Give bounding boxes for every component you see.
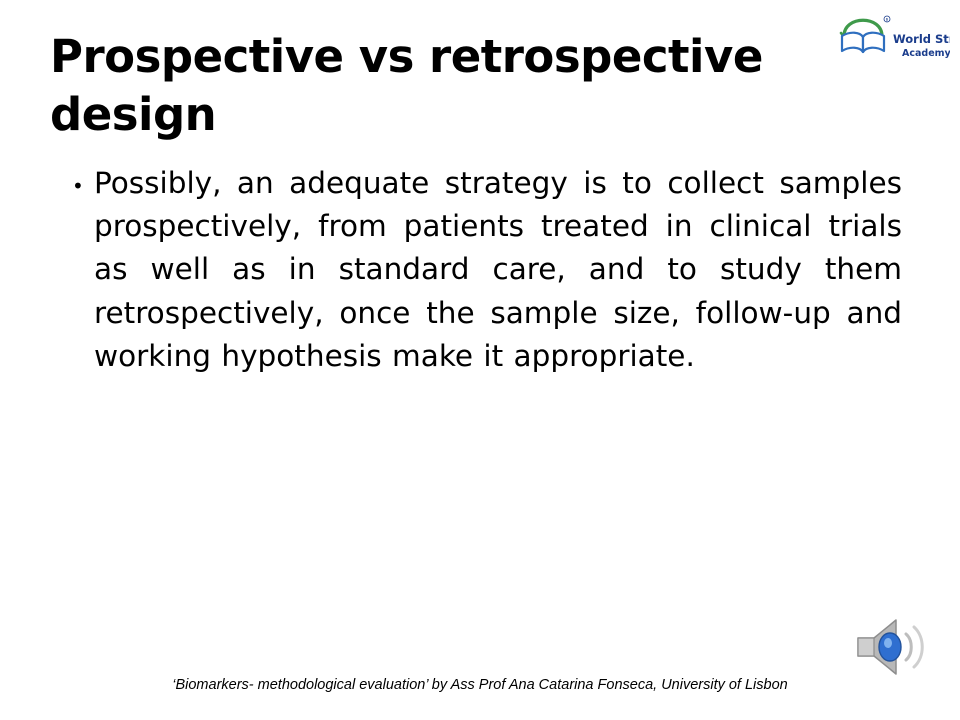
footer-credit: ‘Biomarkers- methodological evaluation’ … bbox=[0, 677, 960, 693]
bullet-text: Possibly, an adequate strategy is to col… bbox=[94, 162, 902, 378]
slide-canvas: R World Stroke Academy Prospective vs re… bbox=[0, 0, 960, 720]
bullet-item: • Possibly, an adequate strategy is to c… bbox=[72, 162, 902, 378]
slide-title: Prospective vs retrospective design bbox=[50, 28, 850, 143]
logo-line2: Academy bbox=[902, 48, 950, 59]
logo-line1: World Stroke bbox=[893, 32, 950, 46]
svg-text:R: R bbox=[886, 17, 889, 22]
slide-body: • Possibly, an adequate strategy is to c… bbox=[72, 162, 902, 378]
speaker-icon-graphic bbox=[852, 612, 936, 682]
speaker-audio-icon[interactable] bbox=[852, 612, 936, 682]
bullet-marker-icon: • bbox=[72, 162, 94, 196]
